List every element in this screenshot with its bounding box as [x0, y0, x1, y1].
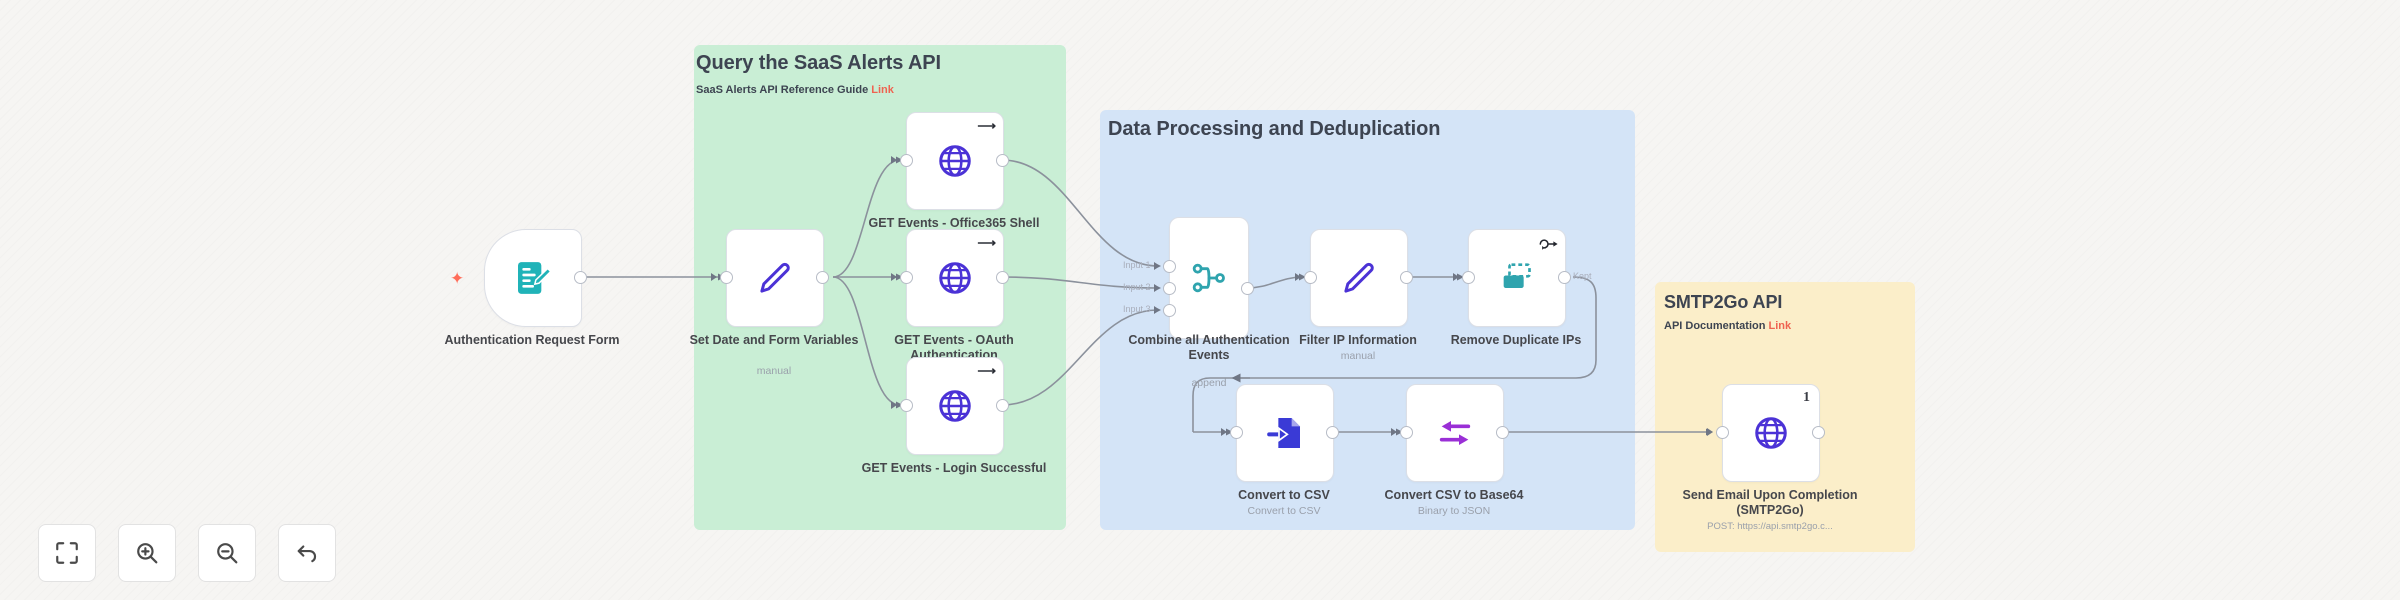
input-port-3[interactable] — [1163, 304, 1176, 317]
group-title-query-saas-alerts-api: Query the SaaS Alerts API — [696, 52, 941, 75]
output-port[interactable] — [1496, 426, 1509, 439]
node-subtitle: POST: https://api.smtp2go.c... — [1666, 520, 1874, 533]
output-port[interactable] — [996, 271, 1009, 284]
input-arrow-icon — [1453, 273, 1459, 281]
input-arrow-icon — [1295, 273, 1301, 281]
group-subtitle-text: API Documentation — [1664, 320, 1765, 332]
group-title-data-processing-and-deduplication: Data Processing and Deduplication — [1108, 118, 1440, 141]
node-body[interactable] — [1169, 217, 1249, 339]
globe-icon — [936, 142, 974, 180]
input-port[interactable] — [720, 271, 733, 284]
arrow-right-badge-icon: ⟶ — [977, 364, 996, 377]
node-subtitle: Convert to CSV — [1186, 505, 1382, 518]
workflow-canvas[interactable]: Query the SaaS Alerts API SaaS Alerts AP… — [0, 0, 2400, 600]
output-port[interactable] — [996, 154, 1009, 167]
output-port[interactable] — [1241, 282, 1254, 295]
node-body[interactable] — [726, 229, 824, 327]
input-port-1[interactable] — [1163, 260, 1176, 273]
node-body[interactable]: ⟶ — [906, 229, 1004, 327]
input-arrow-icon — [1391, 428, 1397, 436]
output-port[interactable] — [1812, 426, 1825, 439]
output-port[interactable] — [996, 399, 1009, 412]
node-body[interactable] — [1236, 384, 1334, 482]
form-icon — [513, 258, 553, 298]
remove-duplicates-icon — [1497, 258, 1537, 298]
input-port[interactable] — [1400, 426, 1413, 439]
node-body[interactable] — [1310, 229, 1408, 327]
zoom-in-icon — [134, 540, 160, 566]
node-body[interactable] — [1406, 384, 1504, 482]
node-label: Convert to CSV — [1186, 488, 1382, 503]
input-port[interactable] — [1304, 271, 1317, 284]
node-subtitle: manual — [1260, 350, 1456, 363]
input-arrow-icon — [891, 273, 897, 281]
input-arrow-icon — [1154, 284, 1160, 292]
group-subtitle-query-saas-alerts-api: SaaS Alerts API Reference Guide Link — [696, 84, 894, 96]
saas-alerts-reference-link[interactable]: Link — [871, 84, 894, 96]
group-title-smtp2go-api: SMTP2Go API — [1664, 292, 1782, 313]
input-port[interactable] — [1230, 426, 1243, 439]
trigger-bolt-icon: ✦ — [450, 270, 464, 287]
output-port[interactable] — [1326, 426, 1339, 439]
swap-arrows-icon — [1435, 413, 1475, 453]
node-body[interactable]: ⟶ — [906, 112, 1004, 210]
node-body[interactable]: ⟶ — [906, 357, 1004, 455]
globe-icon — [1752, 414, 1790, 452]
input-port[interactable] — [900, 271, 913, 284]
input-arrow-icon — [1221, 428, 1227, 436]
smtp2go-doc-link[interactable]: Link — [1769, 320, 1792, 332]
node-label: Authentication Request Form — [434, 333, 630, 348]
node-label: GET Events - Login Successful — [856, 461, 1052, 476]
group-subtitle-text: SaaS Alerts API Reference Guide — [696, 84, 868, 96]
input-arrow-icon — [1707, 428, 1713, 436]
input-port[interactable] — [900, 154, 913, 167]
canvas-toolbar[interactable] — [38, 524, 336, 582]
input-port[interactable] — [1716, 426, 1729, 439]
zoom-out-button[interactable] — [198, 524, 256, 582]
input-arrow-icon — [891, 156, 897, 164]
output-port[interactable] — [1558, 271, 1571, 284]
pencil-icon — [754, 257, 796, 299]
fit-to-view-icon — [54, 540, 80, 566]
input-port-2[interactable] — [1163, 282, 1176, 295]
node-label: Remove Duplicate IPs — [1418, 333, 1614, 348]
input-arrow-icon — [711, 273, 717, 281]
output-port[interactable] — [574, 271, 587, 284]
output-port[interactable] — [1400, 271, 1413, 284]
pencil-icon — [1338, 257, 1380, 299]
output-label-kept: Kept — [1573, 271, 1592, 281]
loop-arrow-badge-icon — [1538, 237, 1558, 251]
item-count-badge: 1 — [1803, 390, 1810, 406]
node-label: Convert CSV to Base64 — [1356, 488, 1552, 503]
input-port[interactable] — [900, 399, 913, 412]
group-subtitle-smtp2go-api: API Documentation Link — [1664, 320, 1791, 332]
node-subtitle: manual — [676, 365, 872, 378]
node-label: Send Email Upon Completion (SMTP2Go) — [1666, 488, 1874, 518]
fit-to-view-button[interactable] — [38, 524, 96, 582]
input-arrow-icon — [1154, 306, 1160, 314]
input-port[interactable] — [1462, 271, 1475, 284]
reset-zoom-icon — [294, 540, 320, 566]
convert-file-icon — [1265, 413, 1305, 453]
zoom-out-icon — [214, 540, 240, 566]
node-body[interactable] — [484, 229, 582, 327]
globe-icon — [936, 259, 974, 297]
node-body[interactable]: 1 — [1722, 384, 1820, 482]
input-label-1: Input 1 — [1123, 260, 1151, 270]
output-port[interactable] — [816, 271, 829, 284]
arrow-right-badge-icon: ⟶ — [977, 119, 996, 132]
node-body[interactable] — [1468, 229, 1566, 327]
input-label-2: Input 2 — [1123, 282, 1151, 292]
reset-zoom-button[interactable] — [278, 524, 336, 582]
node-subtitle: Binary to JSON — [1356, 505, 1552, 518]
globe-icon — [936, 387, 974, 425]
merge-icon — [1189, 258, 1229, 298]
input-label-3: Input 3 — [1123, 304, 1151, 314]
arrow-right-badge-icon: ⟶ — [977, 236, 996, 249]
input-arrow-icon — [891, 401, 897, 409]
zoom-in-button[interactable] — [118, 524, 176, 582]
node-label: Set Date and Form Variables — [676, 333, 872, 348]
input-arrow-icon — [1154, 262, 1160, 270]
